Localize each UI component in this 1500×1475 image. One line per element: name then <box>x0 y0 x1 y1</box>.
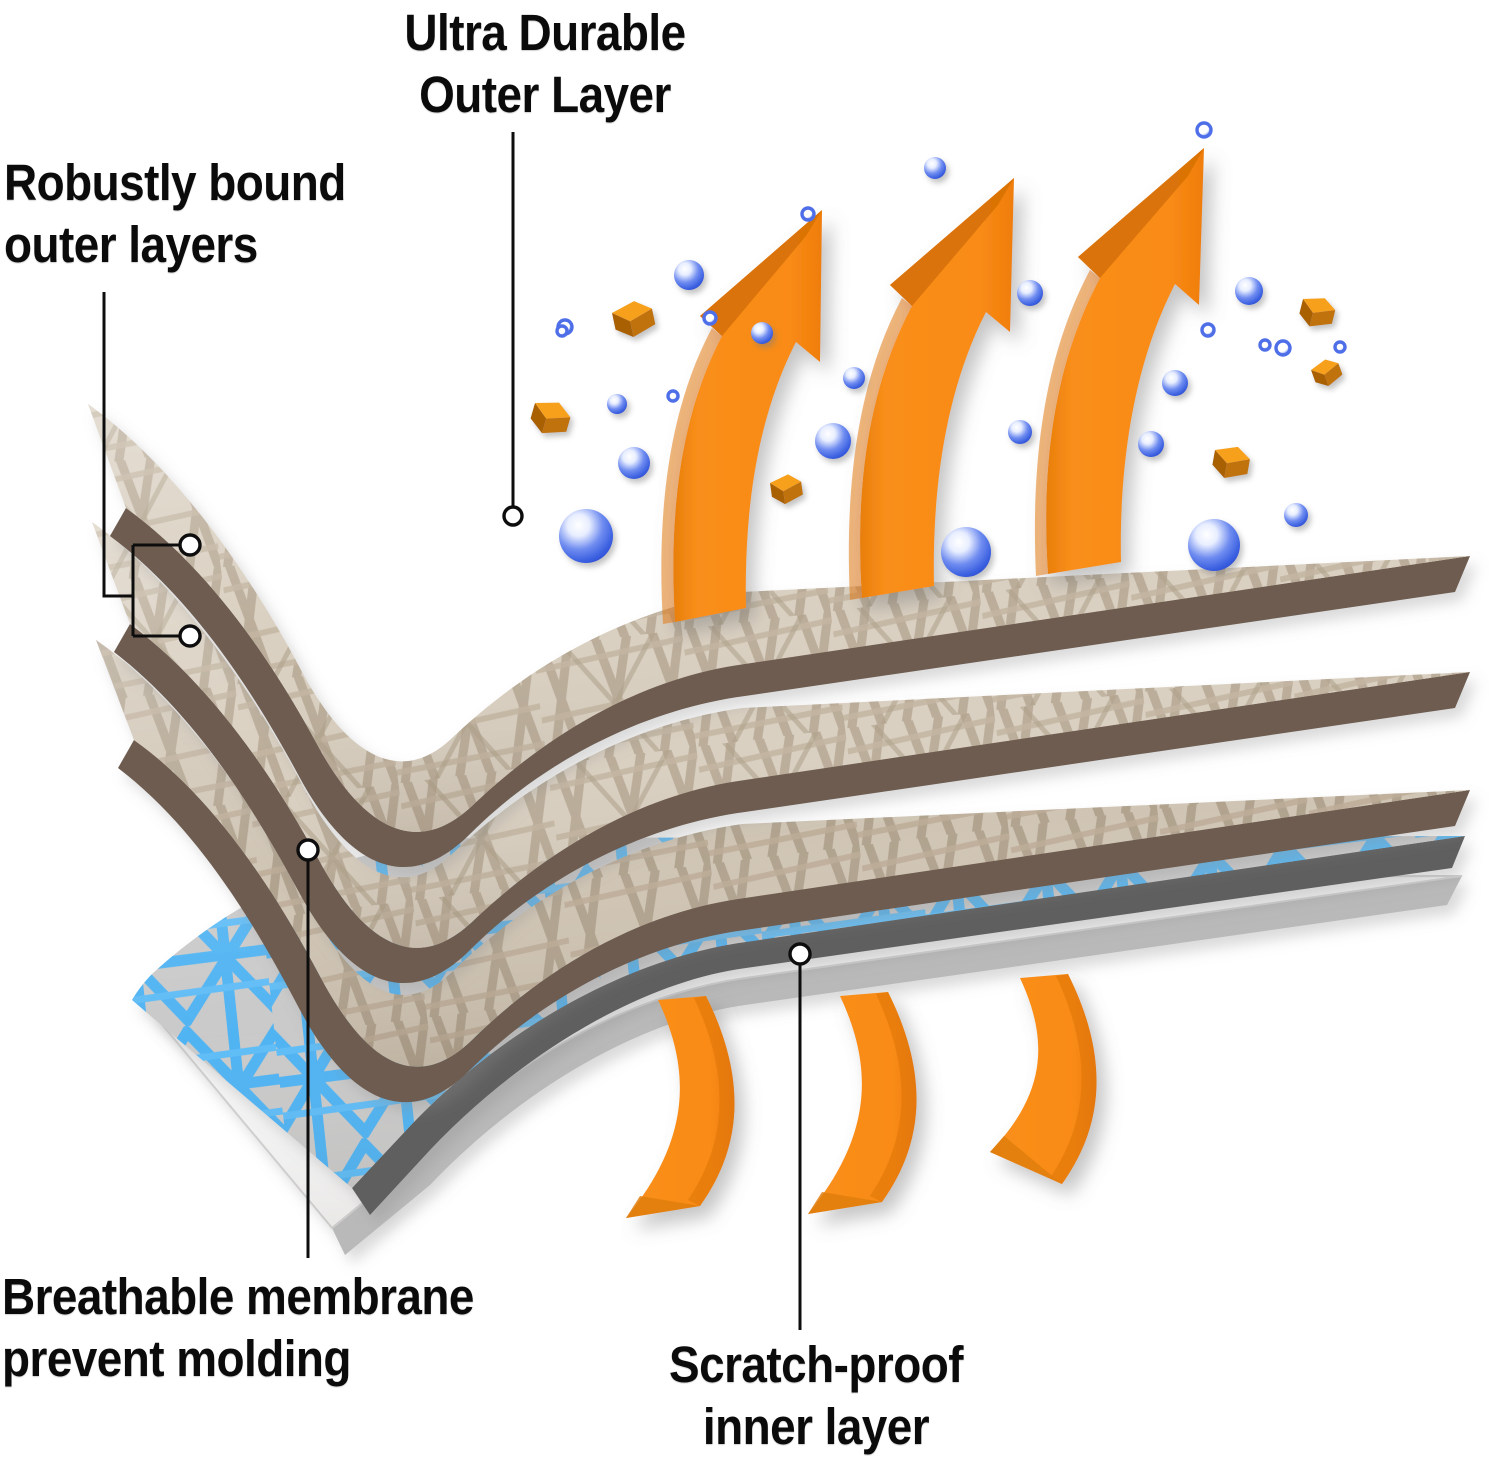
water-vapour-droplet <box>815 423 851 459</box>
airflow-arrows <box>626 974 1097 1218</box>
water-vapour-droplet <box>1235 277 1263 305</box>
water-vapour-droplet <box>802 208 814 220</box>
callout-inner-layer <box>790 944 810 1330</box>
water-vapour-droplet <box>618 447 650 479</box>
water-vapour-droplet <box>1008 420 1032 444</box>
dust-particle-cube <box>1297 293 1337 331</box>
water-vapour-droplet <box>607 394 627 414</box>
water-vapour-droplet <box>674 260 704 290</box>
water-vapour-droplet <box>1162 370 1188 396</box>
callout-outer-layer <box>504 132 522 525</box>
airflow-arrow <box>808 992 917 1214</box>
layer-stack-illustration <box>0 0 1500 1475</box>
callout-ring-outer-layer <box>504 507 522 525</box>
water-vapour-droplet <box>1260 340 1270 350</box>
dust-particle-cube <box>528 396 574 439</box>
water-vapour-droplet <box>941 527 991 577</box>
dust-particle-cube <box>1210 443 1251 482</box>
callout-ring-membrane <box>298 840 318 860</box>
moisture-escape-arrow <box>849 178 1014 600</box>
water-vapour-droplet <box>924 157 946 179</box>
callout-ring-inner-layer <box>790 944 810 964</box>
water-vapour-droplet <box>1138 431 1164 457</box>
water-vapour-droplet <box>1188 519 1240 571</box>
airflow-arrow <box>990 974 1097 1184</box>
water-vapour-droplet <box>1276 341 1290 355</box>
callout-ring-bound-lower <box>180 626 200 646</box>
dust-particle-cube <box>1309 356 1344 390</box>
dust-particle-cube <box>611 298 657 341</box>
water-vapour-droplet <box>1197 123 1211 137</box>
diagram-canvas: Ultra Durable Outer Layer Robustly bound… <box>0 0 1500 1475</box>
water-vapour-droplet <box>1335 342 1345 352</box>
water-vapour-droplet <box>557 326 567 336</box>
water-vapour-droplet <box>751 322 773 344</box>
dust-particle-cube <box>769 473 804 506</box>
water-vapour-droplet <box>559 509 613 563</box>
water-vapour-droplet <box>843 367 865 389</box>
callout-ring-bound-upper <box>180 535 200 555</box>
water-vapour-droplet <box>1017 280 1043 306</box>
water-vapour-droplet <box>704 312 716 324</box>
moisture-escape-arrows <box>661 148 1204 624</box>
water-vapour-droplet <box>1202 324 1214 336</box>
water-vapour-droplet <box>668 391 678 401</box>
water-vapour-droplet <box>1284 503 1308 527</box>
moisture-escape-arrow <box>1035 148 1204 576</box>
